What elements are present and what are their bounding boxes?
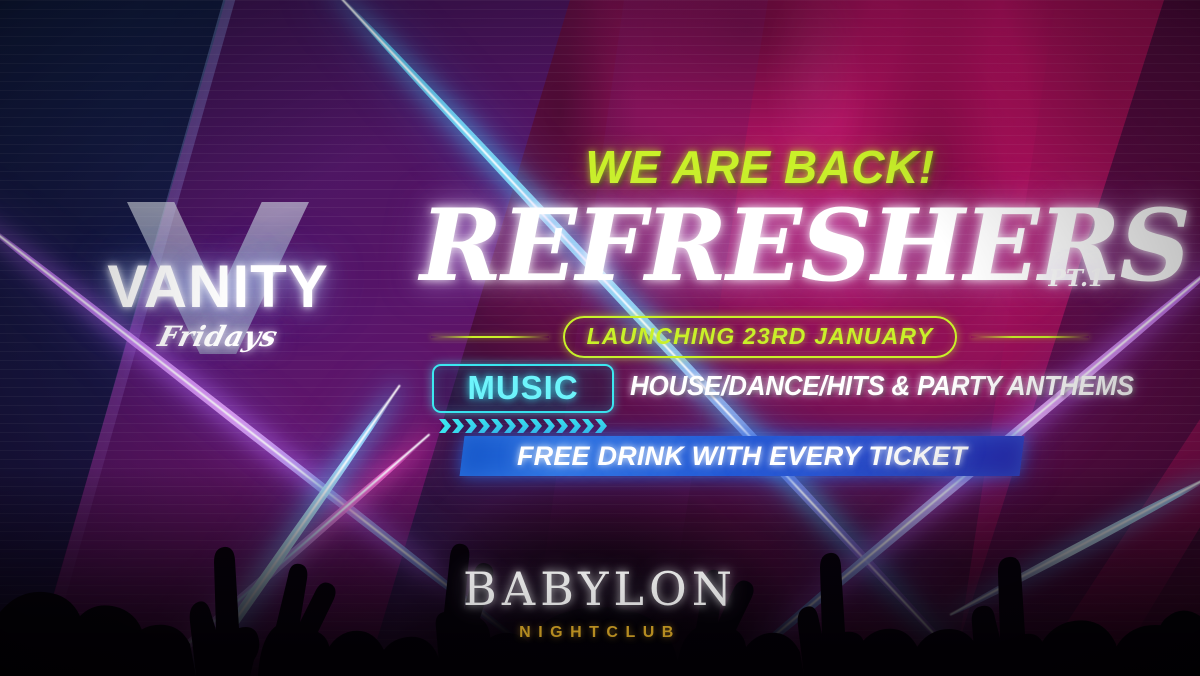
babylon-logo: BABYLON NIGHTCLUB <box>380 562 820 642</box>
free-drink-banner: FREE DRINK WITH EVERY TICKET <box>460 436 1025 476</box>
event-flyer: VANITY Fridays WE ARE BACK! REFRESHERS P… <box>0 0 1200 676</box>
chevron-right-icon <box>595 419 607 433</box>
launch-date-pill: LAUNCHING 23RD JANUARY <box>563 316 958 358</box>
venue-name: BABYLON <box>380 562 820 616</box>
vanity-tagline: Fridays <box>155 320 281 353</box>
chevron-right-icon <box>465 419 477 433</box>
chevron-right-icon <box>569 419 581 433</box>
vanity-logo: VANITY Fridays <box>58 196 378 366</box>
launch-date-row: LAUNCHING 23RD JANUARY <box>420 316 1100 358</box>
venue-subtitle: NIGHTCLUB <box>380 624 820 642</box>
chevron-right-icon <box>543 419 555 433</box>
chevron-strip <box>432 418 614 434</box>
headline-kicker: WE ARE BACK! <box>420 140 1100 194</box>
vanity-wordmark: VANITY <box>107 252 329 321</box>
chevron-right-icon <box>582 419 594 433</box>
chevron-right-icon <box>556 419 568 433</box>
chevron-right-icon <box>504 419 516 433</box>
music-badge-wrap: MUSIC <box>432 364 614 434</box>
headline-block: WE ARE BACK! REFRESHERS PT.1 <box>420 140 1100 300</box>
chevron-right-icon <box>517 419 529 433</box>
chevron-right-icon <box>478 419 490 433</box>
music-badge: MUSIC <box>432 364 614 413</box>
launch-rule-right <box>971 336 1089 338</box>
music-badge-label: MUSIC <box>443 369 603 407</box>
chevron-right-icon <box>491 419 503 433</box>
music-genres-label: HOUSE/DANCE/HITS & PARTY ANTHEMS <box>630 364 1134 402</box>
chevron-right-icon <box>439 419 451 433</box>
music-row: MUSIC HOUSE/DANCE/HITS & PARTY ANTHEMS <box>432 364 1062 434</box>
chevron-right-icon <box>452 419 464 433</box>
launch-date-label: LAUNCHING 23RD JANUARY <box>587 323 934 350</box>
free-drink-label: FREE DRINK WITH EVERY TICKET <box>517 441 967 472</box>
launch-rule-left <box>431 336 549 338</box>
headline-part-label: PT.1 <box>1049 265 1104 292</box>
chevron-right-icon <box>530 419 542 433</box>
headline-title-row: REFRESHERS PT.1 <box>420 192 1100 300</box>
